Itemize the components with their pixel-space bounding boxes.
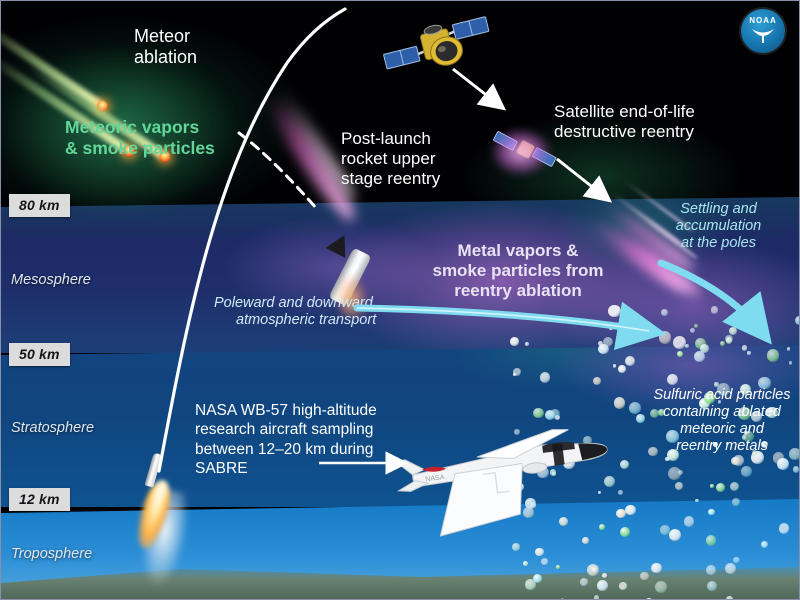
- particle: [767, 349, 779, 361]
- layer-label-troposphere: Troposphere: [11, 546, 92, 562]
- particle: [675, 482, 683, 490]
- settling-line2: accumulation: [641, 218, 796, 235]
- transport-line1: Poleward and downward: [214, 295, 376, 312]
- callout-rocket-reentry: Post-launch rocket upper stage reentry: [341, 129, 440, 189]
- layer-label-mesosphere: Mesosphere: [11, 272, 91, 288]
- particle: [711, 306, 718, 313]
- particle: [779, 523, 789, 533]
- particle: [625, 505, 635, 515]
- callout-settling: Settling and accumulation at the poles: [641, 201, 796, 252]
- callout-meteoric-vapors: Meteoric vapors & smoke particles: [65, 117, 215, 158]
- rocket-reentry-line1: Post-launch: [341, 129, 440, 149]
- transport-line2: atmospheric transport: [214, 312, 376, 329]
- particle: [602, 573, 607, 578]
- settling-line3: at the poles: [641, 235, 796, 252]
- particle: [661, 309, 668, 316]
- particle: [731, 457, 739, 465]
- particle: [725, 563, 736, 574]
- particle: [793, 466, 799, 472]
- particle: [512, 543, 520, 551]
- particle: [677, 351, 683, 357]
- particle: [732, 498, 740, 506]
- particle: [533, 408, 544, 419]
- particle: [613, 364, 616, 367]
- altitude-label-50km: 50 km: [9, 343, 70, 366]
- rocket-reentry-line3: stage reentry: [341, 169, 440, 189]
- metal-vapors-line1: Metal vapors &: [409, 241, 627, 261]
- particle: [673, 336, 686, 349]
- particle: [556, 565, 560, 569]
- sulfuric-line2: containing ablated: [646, 404, 798, 421]
- settling-line1: Settling and: [641, 201, 796, 218]
- particle: [614, 397, 626, 409]
- particle: [706, 535, 716, 545]
- particle: [741, 466, 752, 477]
- particle: [747, 351, 750, 354]
- diagram-canvas: Meteor ablation Meteoric vapors & smoke …: [0, 0, 800, 600]
- particle: [630, 331, 640, 341]
- particle: [710, 484, 714, 488]
- wb57-line2: research aircraft sampling: [195, 420, 377, 439]
- wb57-aircraft-icon: NASA: [396, 419, 626, 539]
- particle: [597, 580, 608, 591]
- particle: [789, 361, 792, 364]
- wb57-line4: SABRE: [195, 459, 377, 478]
- particle: [608, 305, 620, 317]
- meteor-ablation-line1: Meteor: [134, 26, 197, 47]
- meteoric-vapors-line2: & smoke particles: [65, 138, 215, 159]
- particle: [726, 596, 732, 600]
- particle: [636, 414, 645, 423]
- particle: [523, 561, 528, 566]
- particle: [651, 563, 661, 573]
- callout-sulfuric-acid: Sulfuric acid particles containing ablat…: [646, 387, 798, 455]
- particle: [535, 548, 543, 556]
- particle: [640, 572, 648, 580]
- particle: [659, 331, 672, 344]
- altitude-label-12km: 12 km: [9, 488, 70, 511]
- sulfuric-line4: reentry metals: [646, 438, 798, 455]
- rocket-reentry-line2: rocket upper: [341, 149, 440, 169]
- metal-vapors-line3: reentry ablation: [409, 281, 627, 301]
- particle: [587, 564, 599, 576]
- wb57-line1: NASA WB-57 high-altitude: [195, 401, 377, 420]
- particle: [594, 595, 599, 600]
- particle: [761, 541, 768, 548]
- particle: [787, 347, 790, 350]
- metal-vapors-line2: smoke particles from: [409, 261, 627, 281]
- particle: [694, 324, 698, 328]
- satellite-breakup: [471, 113, 581, 193]
- particle: [708, 509, 715, 516]
- layer-label-stratosphere: Stratosphere: [11, 420, 94, 436]
- sulfuric-line1: Sulfuric acid particles: [646, 387, 798, 404]
- callout-meteor-ablation: Meteor ablation: [134, 26, 197, 68]
- particle: [690, 328, 695, 333]
- particle: [618, 365, 626, 373]
- particle: [513, 368, 521, 376]
- particle: [540, 372, 550, 382]
- callout-metal-vapors: Metal vapors & smoke particles from reen…: [409, 241, 627, 301]
- altitude-label-80km: 80 km: [9, 194, 70, 217]
- sulfuric-line3: meteoric and: [646, 421, 798, 438]
- particle: [667, 374, 678, 385]
- particle: [669, 529, 681, 541]
- particle: [706, 565, 716, 575]
- callout-wb57: NASA WB-57 high-altitude research aircra…: [195, 401, 377, 479]
- particle: [593, 377, 601, 385]
- meteoric-vapors-line1: Meteoric vapors: [65, 117, 215, 138]
- noaa-logo: NOAA: [741, 9, 785, 53]
- callout-transport: Poleward and downward atmospheric transp…: [214, 295, 376, 329]
- particle: [726, 337, 733, 344]
- particle: [707, 581, 717, 591]
- particle: [510, 337, 519, 346]
- particle: [684, 516, 694, 526]
- wb57-line3: between 12–20 km during: [195, 440, 377, 459]
- particle: [700, 344, 709, 353]
- meteor-ablation-line2: ablation: [134, 47, 197, 68]
- particle: [750, 314, 761, 325]
- particle: [733, 557, 740, 564]
- particle: [525, 342, 529, 346]
